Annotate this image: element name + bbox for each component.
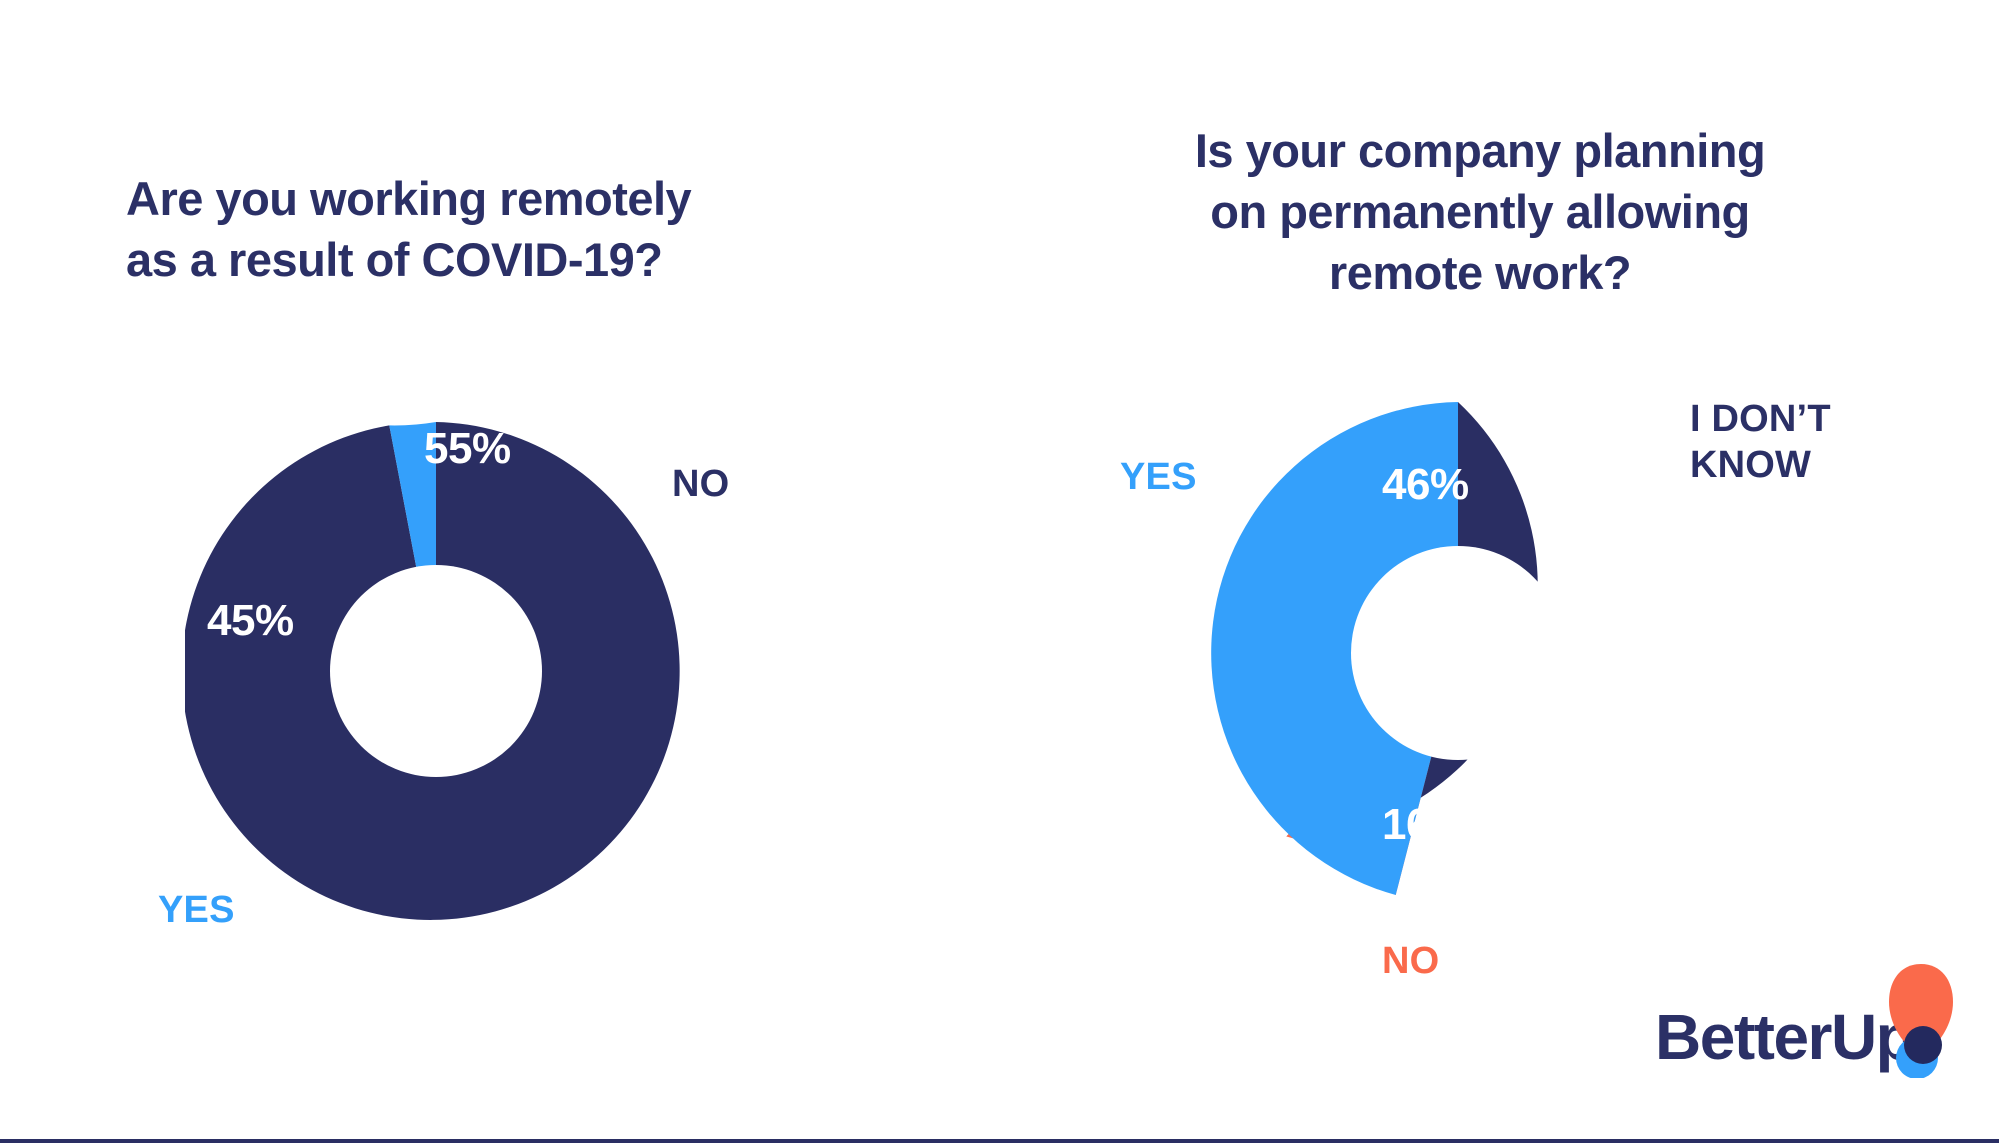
donut-2-value-no: 16%	[1382, 800, 1469, 850]
chart-2-title: Is your company planning on permanently …	[1145, 120, 1815, 303]
donut-1-hole	[330, 565, 542, 777]
betterup-logo[interactable]: BetterUp	[1655, 1005, 1965, 1075]
donut-1-label-yes: YES	[158, 887, 235, 933]
infographic-canvas: Are you working remotely as a result of …	[0, 0, 1999, 1143]
donut-2-label-no: NO	[1382, 938, 1439, 984]
donut-2-value-idk: 38%	[1580, 632, 1667, 682]
donut-2-label-yes: YES	[1120, 454, 1197, 500]
donut-2-label-i-dont-know: I DON’T KNOW	[1690, 396, 1831, 489]
donut-2-hole	[1351, 546, 1565, 760]
donut-1-value-yes: 45%	[207, 596, 294, 646]
betterup-balloon-icon	[1883, 960, 1959, 1078]
donut-1-value-no: 55%	[424, 424, 511, 474]
balloon-navy-dot-icon	[1904, 1026, 1942, 1064]
donut-2-value-yes: 46%	[1382, 460, 1469, 510]
donut-1-svg	[185, 420, 687, 922]
betterup-wordmark: BetterUp	[1655, 1005, 1913, 1069]
donut-chart-working-remotely	[185, 420, 687, 922]
chart-1-title: Are you working remotely as a result of …	[126, 168, 826, 290]
bottom-divider	[0, 1139, 1999, 1143]
donut-1-label-no: NO	[672, 461, 729, 507]
